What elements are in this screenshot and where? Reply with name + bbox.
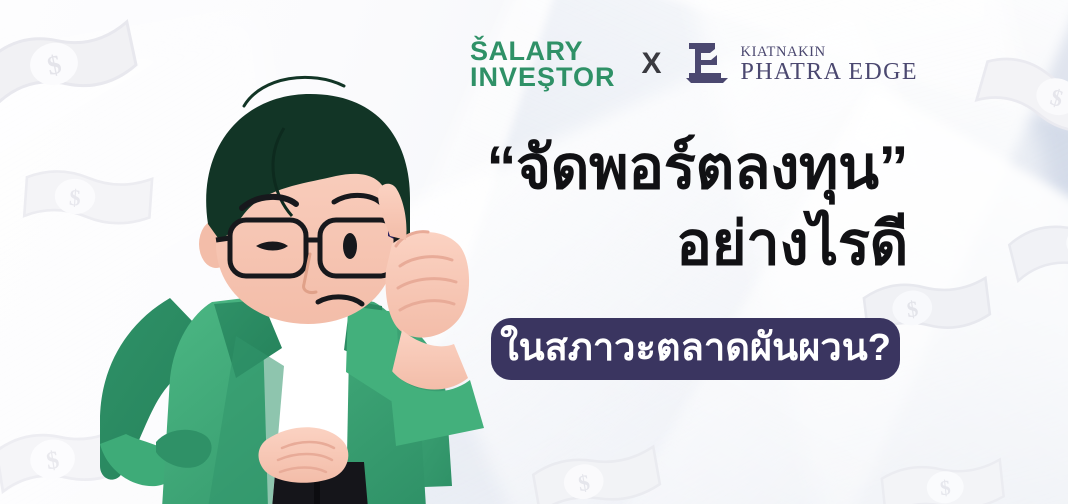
headline: “จัดพอร์ตลงทุน” อย่างไรดี [388, 138, 908, 274]
thinking-businessman-illustration [96, 48, 516, 504]
logo-lockup: ŠALARY INVEŞTOR X KIATNAKIN PHATRA EDGE [470, 38, 918, 91]
eye-right [343, 233, 357, 259]
banknote-bottom-center: $ [526, 431, 668, 504]
svg-text:$: $ [45, 447, 62, 476]
banknote-bottom-right: $ [876, 446, 1009, 504]
salary-investor-logo[interactable]: ŠALARY INVEŞTOR [470, 38, 616, 91]
banknote-top-right: $ [966, 37, 1068, 154]
headline-line-2: อย่างไรดี [388, 214, 908, 274]
svg-text:$: $ [44, 49, 63, 81]
svg-text:$: $ [905, 296, 919, 322]
kiatnakin-phatra-edge-logo[interactable]: KIATNAKIN PHATRA EDGE [684, 40, 918, 89]
logo-separator: X [642, 49, 662, 79]
subheadline-badge: ในสภาวะตลาดผันผวน? [491, 318, 900, 380]
promo-banner: $ $ $ $ $ $ [0, 0, 1068, 504]
kkp-wordmark: KIATNAKIN PHATRA EDGE [741, 45, 918, 85]
headline-line-1: “จัดพอร์ตลงทุน” [388, 138, 908, 198]
kkp-line1: KIATNAKIN [741, 45, 918, 60]
svg-text:$: $ [1047, 85, 1066, 113]
salary-investor-line2: INVEŞTOR [470, 62, 616, 92]
banknote-far-right: $ [1001, 194, 1068, 298]
forearm [392, 330, 468, 389]
kkp-monogram-icon [684, 40, 730, 89]
kkp-line2: PHATRA EDGE [741, 60, 918, 84]
subheadline-badge-text: ในสภาวะตลาดผันผวน? [500, 329, 891, 370]
svg-text:$: $ [939, 475, 952, 500]
svg-text:$: $ [576, 470, 591, 497]
svg-text:$: $ [68, 185, 81, 211]
